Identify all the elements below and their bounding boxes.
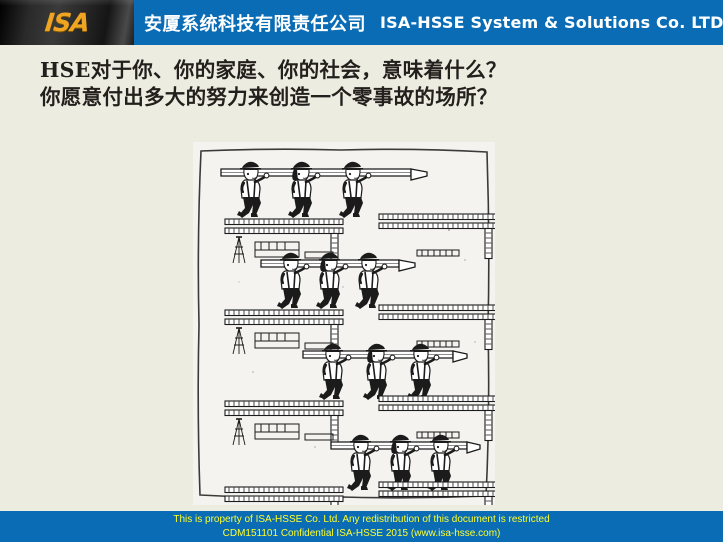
slide-title-line-2: 你愿意付出多大的努力来创造一个零事故的场所？ <box>40 84 680 111</box>
company-name-english: ISA-HSSE System & Solutions Co. LTD <box>380 13 723 32</box>
slide-header-bar: ISA 安厦系统科技有限责任公司 ISA-HSSE System & Solut… <box>0 0 723 45</box>
footer-line-2: CDM151101 Confidential ISA-HSSE 2015 (ww… <box>223 527 501 541</box>
logo-panel: ISA <box>0 0 134 45</box>
company-name-chinese: 安厦系统科技有限责任公司 <box>144 10 366 36</box>
footer-line-1: This is property of ISA-HSSE Co. Ltd. An… <box>173 513 549 527</box>
slide-footer-bar: This is property of ISA-HSSE Co. Ltd. An… <box>0 511 723 542</box>
workers-sketch-svg <box>193 142 495 505</box>
header-company-title: 安厦系统科技有限责任公司 ISA-HSSE System & Solutions… <box>144 0 723 45</box>
isa-logo: ISA <box>0 0 136 45</box>
slide-title: HSE对于你、你的家庭、你的社会，意味着什么？ 你愿意付出多大的努力来创造一个零… <box>40 57 680 111</box>
illustration-image <box>193 142 495 505</box>
slide-title-line-1: HSE对于你、你的家庭、你的社会，意味着什么？ <box>40 57 680 84</box>
